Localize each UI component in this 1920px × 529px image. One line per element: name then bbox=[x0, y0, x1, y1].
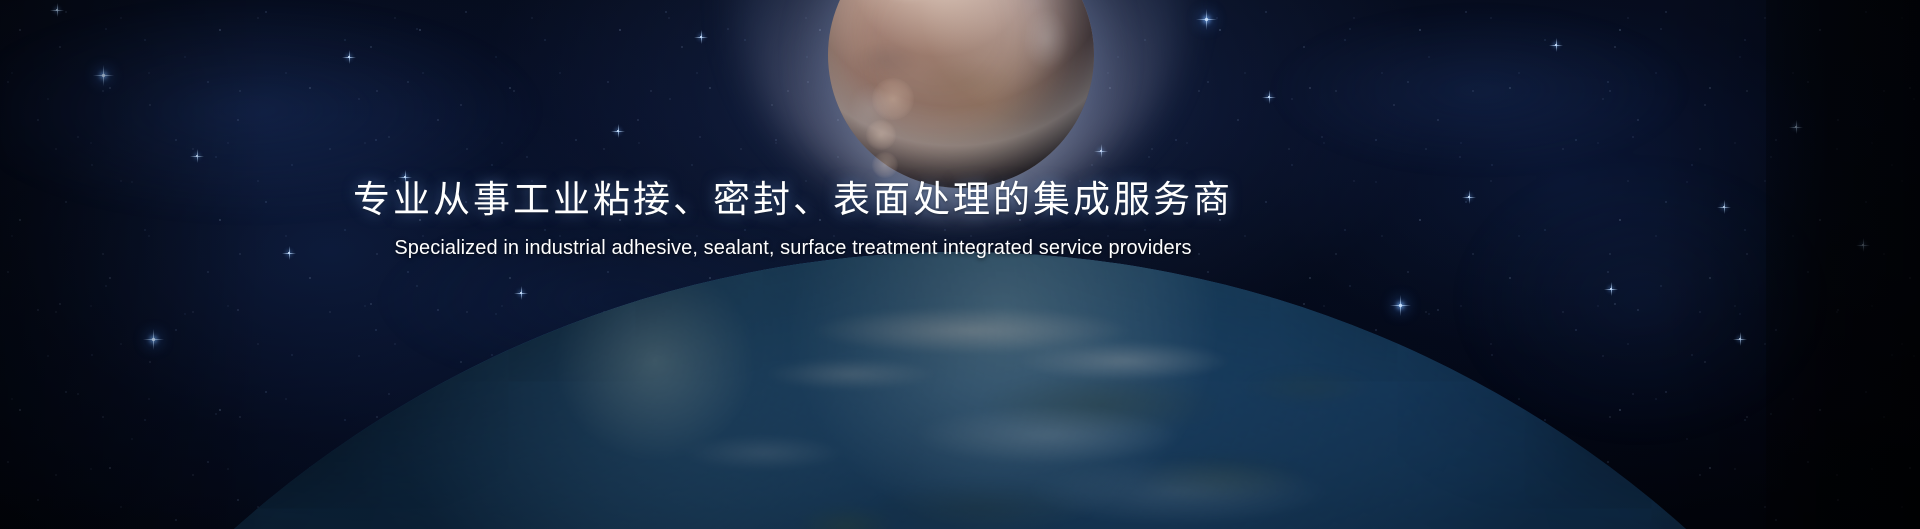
bright-star bbox=[152, 338, 155, 341]
bright-star bbox=[1205, 18, 1208, 21]
slogan-headline-cn: 专业从事工业粘接、密封、表面处理的集成服务商 bbox=[0, 176, 1586, 226]
bright-star bbox=[1739, 338, 1741, 340]
bright-star bbox=[1399, 304, 1402, 307]
bright-star bbox=[700, 36, 702, 38]
right-edge-seam bbox=[1766, 0, 1920, 529]
bright-star bbox=[660, 348, 662, 350]
rocky-planet bbox=[828, 0, 1094, 188]
lens-flare-orb bbox=[866, 120, 896, 150]
bright-star bbox=[1268, 96, 1270, 98]
bright-star bbox=[102, 74, 105, 77]
lens-flare-orb bbox=[872, 152, 898, 178]
bright-star bbox=[56, 9, 58, 11]
bright-star bbox=[196, 155, 198, 157]
bright-star bbox=[1610, 288, 1612, 290]
slogan-block: 专业从事工业粘接、密封、表面处理的集成服务商 Specialized in in… bbox=[0, 176, 1586, 260]
bright-star bbox=[520, 292, 522, 294]
bright-star bbox=[617, 130, 619, 132]
lens-flare-orb bbox=[872, 78, 914, 120]
bright-star bbox=[1723, 206, 1725, 208]
slogan-subheadline-en: Specialized in industrial adhesive, seal… bbox=[0, 237, 1586, 260]
hero-banner: 专业从事工业粘接、密封、表面处理的集成服务商 Specialized in in… bbox=[0, 0, 1920, 529]
bright-star bbox=[348, 56, 350, 58]
bright-star bbox=[1555, 44, 1557, 46]
